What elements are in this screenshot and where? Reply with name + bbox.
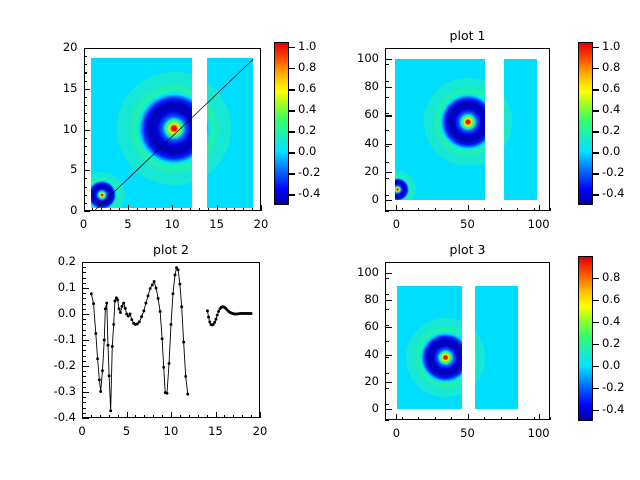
plot3-xtick-minor (550, 417, 551, 421)
plot3-ytick-minor (385, 420, 389, 421)
plot3-colorbar-ticklabel: 0.8 (602, 270, 620, 284)
plot3-colorbar-ticklabel: -0.4 (602, 402, 624, 416)
plot3-xtick-major (396, 414, 397, 421)
plot3-ytick-minor (385, 262, 389, 263)
plot3-ytick-major (385, 273, 392, 274)
plot3-ytick-major (385, 382, 392, 383)
plot3-colorbar-tick (593, 366, 599, 367)
plot3-ytick-major (385, 327, 392, 328)
plot3-yticklabel: 60 (325, 319, 379, 333)
plot3-ytick-minor (385, 357, 389, 358)
plot3-ytick-major (385, 355, 392, 356)
plot3-title: plot 3 (345, 242, 590, 257)
plot3-colorbar-tick (593, 388, 599, 389)
plot3-ytick-minor (385, 388, 389, 389)
plot3-colorbar-ticklabel: 0.2 (602, 336, 620, 350)
panel-plot3: plot 3050100020406080100-0.4-0.20.00.20.… (0, 0, 640, 480)
plot3-ytick-major (385, 409, 392, 410)
plot3-yticklabel: 100 (325, 265, 379, 279)
plot3-colorbar (578, 256, 593, 421)
plot3-xtick-minor (517, 417, 518, 421)
plot3-colorbar-tick (593, 322, 599, 323)
plot3-xtick-minor (435, 417, 436, 421)
plot3-ytick-minor (385, 404, 389, 405)
plot3-xtick-major (539, 414, 540, 421)
plot3-xtick-minor (501, 417, 502, 421)
plot3-yticklabel: 80 (325, 292, 379, 306)
plot3-xtick-major (468, 414, 469, 421)
plot3-colorbar-ticklabel: -0.2 (602, 380, 624, 394)
plot3-ytick-major (385, 300, 392, 301)
plot3-colorbar-ticklabel: 0.6 (602, 292, 620, 306)
plot3-xticklabel: 0 (371, 426, 421, 440)
plot3-colorbar-tick (593, 410, 599, 411)
plot3-ytick-minor (385, 294, 389, 295)
plot3-ytick-minor (385, 341, 389, 342)
plot3-xtick-minor (534, 417, 535, 421)
plot3-ytick-minor (385, 325, 389, 326)
plot3-colorbar-tick (593, 344, 599, 345)
plot3-yticklabel: 20 (325, 374, 379, 388)
plot3-xtick-minor (402, 417, 403, 421)
figure-canvas: 0510152005101520-0.4-0.20.00.20.40.60.81… (0, 0, 640, 480)
plot3-ytick-minor (385, 278, 389, 279)
plot3-xtick-minor (484, 417, 485, 421)
plot3-xtick-minor (451, 417, 452, 421)
plot3-colorbar-ticklabel: 0.0 (602, 358, 620, 372)
plot3-yticklabel: 40 (325, 347, 379, 361)
plot3-yticklabel: 0 (325, 401, 379, 415)
plot3-ytick-minor (385, 309, 389, 310)
plot3-colorbar-tick (593, 278, 599, 279)
plot3-xtick-minor (418, 417, 419, 421)
plot3-xticklabel: 100 (514, 426, 564, 440)
plot3-colorbar-tick (593, 300, 599, 301)
plot3-xticklabel: 50 (443, 426, 493, 440)
plot3-ytick-minor (385, 373, 389, 374)
plot3-axes-frame (385, 262, 550, 420)
plot3-colorbar-ticklabel: 0.4 (602, 314, 620, 328)
